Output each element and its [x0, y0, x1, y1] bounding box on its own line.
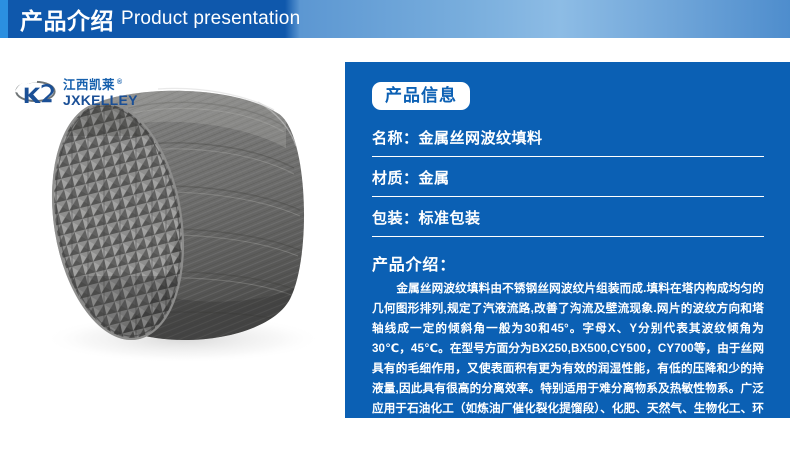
spec-row-material: 材质：金属: [372, 167, 764, 197]
header-accent-bar: [0, 0, 8, 38]
spec-value-packaging: 标准包装: [419, 210, 481, 227]
product-info-panel: 产品信息 名称：金属丝网波纹填料 材质：金属 包装：标准包装 产品介绍： 金属丝…: [345, 62, 790, 418]
spec-row-packaging: 包装：标准包装: [372, 207, 764, 237]
logo-text: 江西凯莱® JXKELLEY: [63, 79, 138, 108]
page-title-en: Product presentation: [121, 8, 300, 30]
jxkelley-k2-logo-icon: [14, 78, 60, 108]
company-logo: 江西凯莱® JXKELLEY: [14, 78, 138, 108]
spec-row-name: 名称：金属丝网波纹填料: [372, 127, 764, 157]
product-info-content: 产品信息 名称：金属丝网波纹填料 材质：金属 包装：标准包装 产品介绍： 金属丝…: [372, 82, 764, 439]
product-presentation-page: 产品介绍 Product presentation: [0, 0, 790, 450]
logo-name-cn: 江西凯莱®: [63, 79, 138, 92]
product-description-block: 产品介绍： 金属丝网波纹填料由不锈钢丝网波纹片组装而成.填料在塔内构成均匀的几何…: [372, 251, 764, 439]
spec-label-name: 名称：: [372, 130, 419, 147]
logo-name-en: JXKELLEY: [63, 93, 138, 107]
page-header-banner: 产品介绍 Product presentation: [0, 0, 790, 38]
spec-label-material: 材质：: [372, 170, 419, 187]
spec-value-name: 金属丝网波纹填料: [419, 130, 543, 147]
product-description-title: 产品介绍：: [372, 251, 764, 275]
page-title-cn: 产品介绍: [20, 2, 114, 36]
logo-name-cn-text: 江西凯莱: [63, 78, 115, 92]
spec-value-material: 金属: [419, 170, 450, 187]
page-title: 产品介绍 Product presentation: [20, 0, 300, 38]
product-info-badge: 产品信息: [372, 82, 470, 110]
registered-trademark-icon: ®: [117, 79, 123, 86]
product-spec-list: 名称：金属丝网波纹填料 材质：金属 包装：标准包装: [372, 127, 764, 237]
product-description-text: 金属丝网波纹填料由不锈钢丝网波纹片组装而成.填料在塔内构成均匀的几何图形排列,规…: [372, 279, 764, 439]
product-photo-area: 江西凯莱® JXKELLEY: [0, 44, 340, 424]
spec-label-packaging: 包装：: [372, 210, 419, 227]
